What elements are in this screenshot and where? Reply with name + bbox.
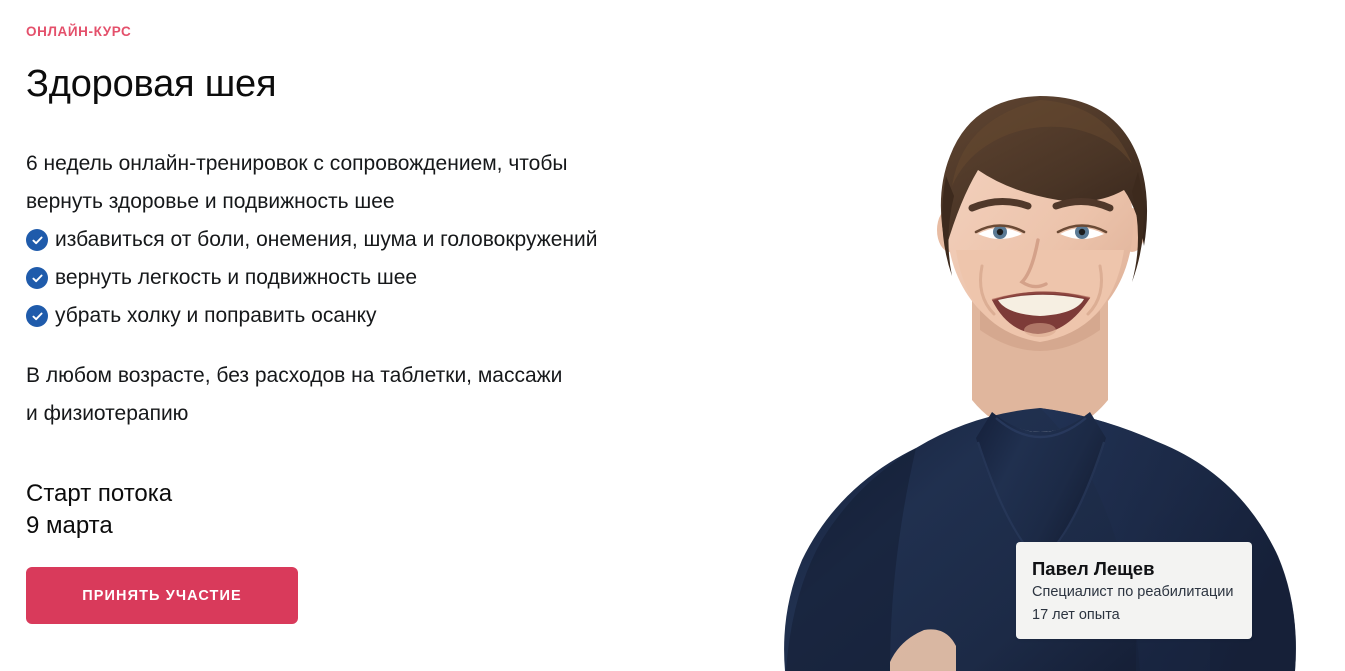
list-item: избавиться от боли, онемения, шума и гол… bbox=[26, 221, 726, 259]
check-circle-icon bbox=[26, 229, 48, 251]
enroll-button[interactable]: ПРИНЯТЬ УЧАСТИЕ bbox=[26, 567, 298, 624]
list-item: вернуть легкость и подвижность шее bbox=[26, 259, 726, 297]
start-date-block: Старт потока 9 марта bbox=[26, 478, 172, 542]
landing-hero-page: ОНЛАЙН-КУРС Здоровая шея 6 недель онлайн… bbox=[0, 0, 1345, 671]
specialist-name: Павел Лещев bbox=[1032, 556, 1236, 581]
list-item: убрать холку и поправить осанку bbox=[26, 297, 726, 335]
note-paragraph: В любом возрасте, без расходов на таблет… bbox=[26, 357, 716, 433]
specialist-experience: 17 лет опыта bbox=[1032, 604, 1236, 627]
lead-line-1: 6 недель онлайн-тренировок с сопровожден… bbox=[26, 145, 716, 183]
check-circle-icon bbox=[26, 305, 48, 327]
check-circle-icon bbox=[26, 267, 48, 289]
lead-line-2: вернуть здоровье и подвижность шее bbox=[26, 183, 716, 221]
hero-content-column: ОНЛАЙН-КУРС Здоровая шея 6 недель онлайн… bbox=[26, 0, 746, 671]
benefit-label: убрать холку и поправить осанку bbox=[55, 297, 377, 335]
specialist-role: Специалист по реабилитации bbox=[1032, 581, 1236, 604]
lead-paragraph: 6 недель онлайн-тренировок с сопровожден… bbox=[26, 145, 716, 221]
note-line-2: и физиотерапию bbox=[26, 395, 716, 433]
benefits-list: избавиться от боли, онемения, шума и гол… bbox=[26, 221, 726, 335]
page-title: Здоровая шея bbox=[26, 63, 276, 106]
note-line-1: В любом возрасте, без расходов на таблет… bbox=[26, 357, 716, 395]
start-date: 9 марта bbox=[26, 510, 172, 542]
specialist-name-card: Павел Лещев Специалист по реабилитации 1… bbox=[1016, 542, 1252, 639]
benefit-label: избавиться от боли, онемения, шума и гол… bbox=[55, 221, 597, 259]
start-label: Старт потока bbox=[26, 478, 172, 510]
course-type-eyebrow: ОНЛАЙН-КУРС bbox=[26, 25, 131, 39]
benefit-label: вернуть легкость и подвижность шее bbox=[55, 259, 417, 297]
